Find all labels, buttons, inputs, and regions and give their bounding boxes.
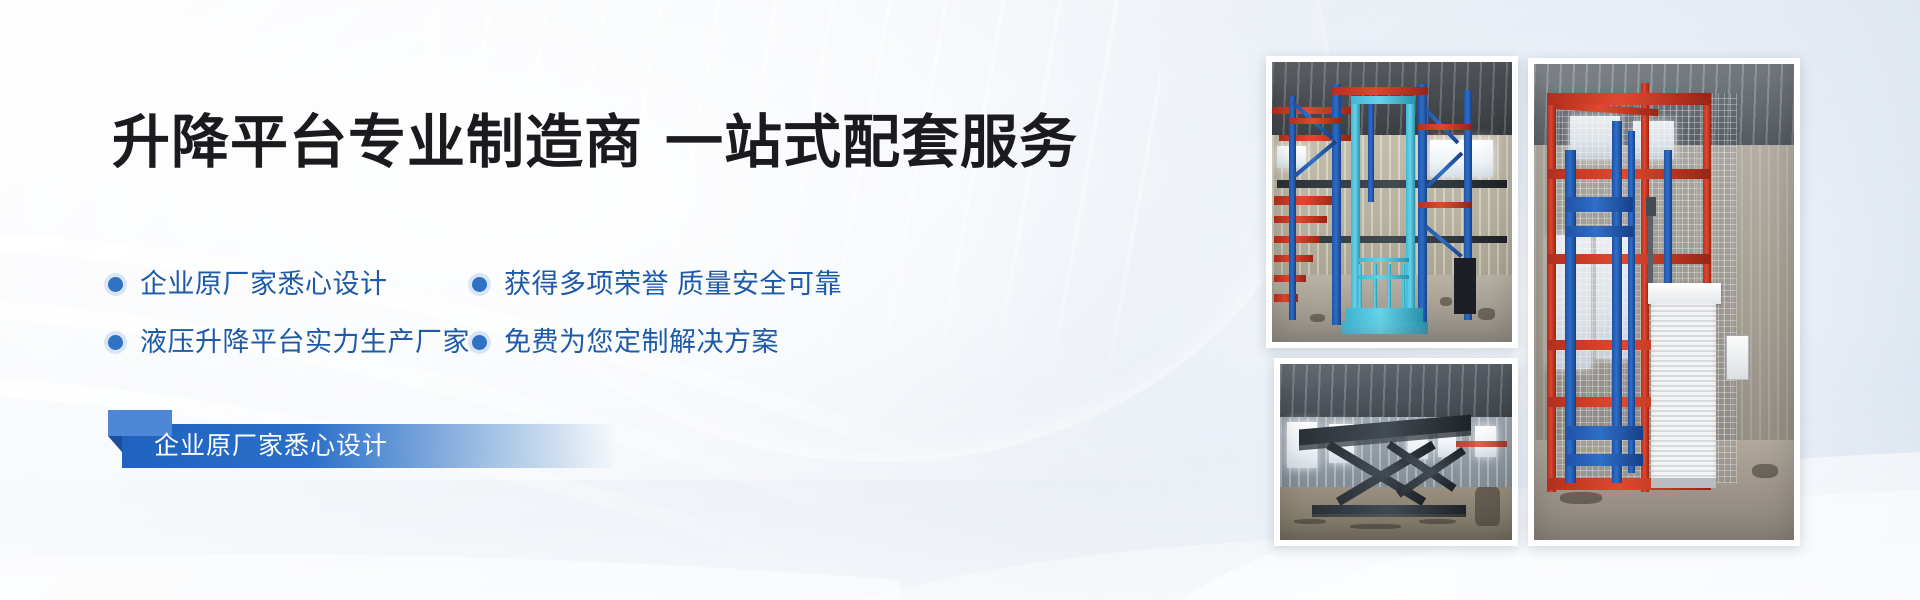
photo-scene-rack-warehouse bbox=[1272, 62, 1512, 342]
bullet-dot-icon bbox=[472, 335, 487, 350]
feature-row-2: 液压升降平台实力生产厂家 免费为您定制解决方案 bbox=[108, 313, 958, 371]
banner-headline: 升降平台专业制造商一站式配套服务 bbox=[112, 111, 1078, 175]
feature-label-4: 免费为您定制解决方案 bbox=[504, 327, 779, 357]
banner-text-content: 升降平台专业制造商一站式配套服务 企业原厂家悉心设计 获得多项荣誉 质量安全可靠… bbox=[0, 0, 1100, 600]
headline-part-1: 升降平台专业制造商 bbox=[112, 110, 643, 175]
feature-item-2: 获得多项荣誉 质量安全可靠 bbox=[472, 269, 892, 299]
feature-label-2: 获得多项荣誉 质量安全可靠 bbox=[504, 269, 842, 299]
bullet-dot-icon bbox=[108, 335, 123, 350]
photo-caged-cargo-lift bbox=[1528, 58, 1800, 546]
promo-banner: 升降平台专业制造商一站式配套服务 企业原厂家悉心设计 获得多项荣誉 质量安全可靠… bbox=[0, 0, 1920, 600]
ribbon-label: 企业原厂家悉心设计 bbox=[154, 424, 388, 468]
feature-label-1: 企业原厂家悉心设计 bbox=[140, 269, 388, 299]
feature-item-3: 液压升降平台实力生产厂家 bbox=[108, 327, 472, 357]
feature-list: 企业原厂家悉心设计 获得多项荣誉 质量安全可靠 液压升降平台实力生产厂家 免费为… bbox=[108, 255, 958, 371]
feature-item-1: 企业原厂家悉心设计 bbox=[108, 269, 472, 299]
bullet-dot-icon bbox=[108, 277, 123, 292]
feature-item-4: 免费为您定制解决方案 bbox=[472, 327, 892, 357]
photo-scene-scissor-lift bbox=[1280, 364, 1512, 540]
photo-guide-rail-cargo-lift bbox=[1266, 56, 1518, 348]
product-photo-gallery bbox=[1266, 56, 1826, 556]
highlight-ribbon: 企业原厂家悉心设计 bbox=[122, 424, 614, 468]
bullet-dot-icon bbox=[472, 277, 487, 292]
photo-scene-caged-cargo-lift bbox=[1534, 64, 1794, 540]
feature-label-3: 液压升降平台实力生产厂家 bbox=[140, 327, 470, 357]
feature-row-1: 企业原厂家悉心设计 获得多项荣誉 质量安全可靠 bbox=[108, 255, 958, 313]
headline-part-2: 一站式配套服务 bbox=[665, 110, 1078, 175]
photo-scissor-lift-platform bbox=[1274, 358, 1518, 546]
